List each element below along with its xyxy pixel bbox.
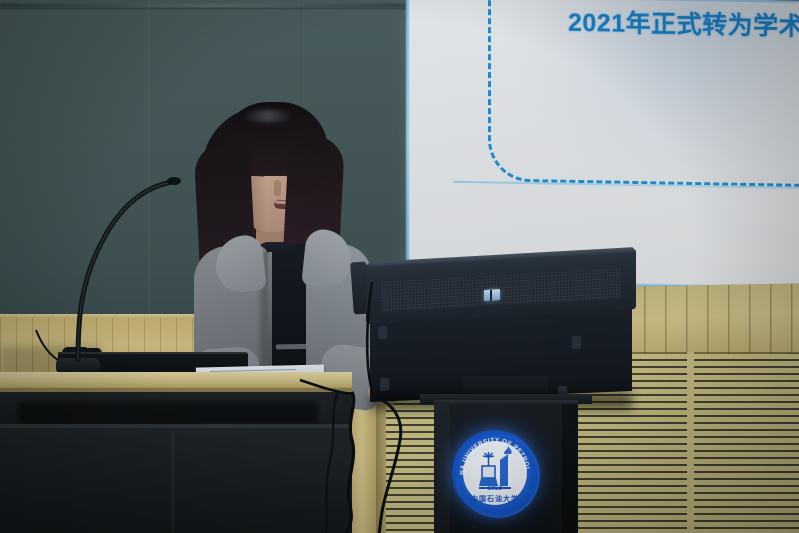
vignette-overlay [0, 0, 799, 533]
lecture-hall-photo: 2021年正式转为学术 [0, 0, 799, 533]
